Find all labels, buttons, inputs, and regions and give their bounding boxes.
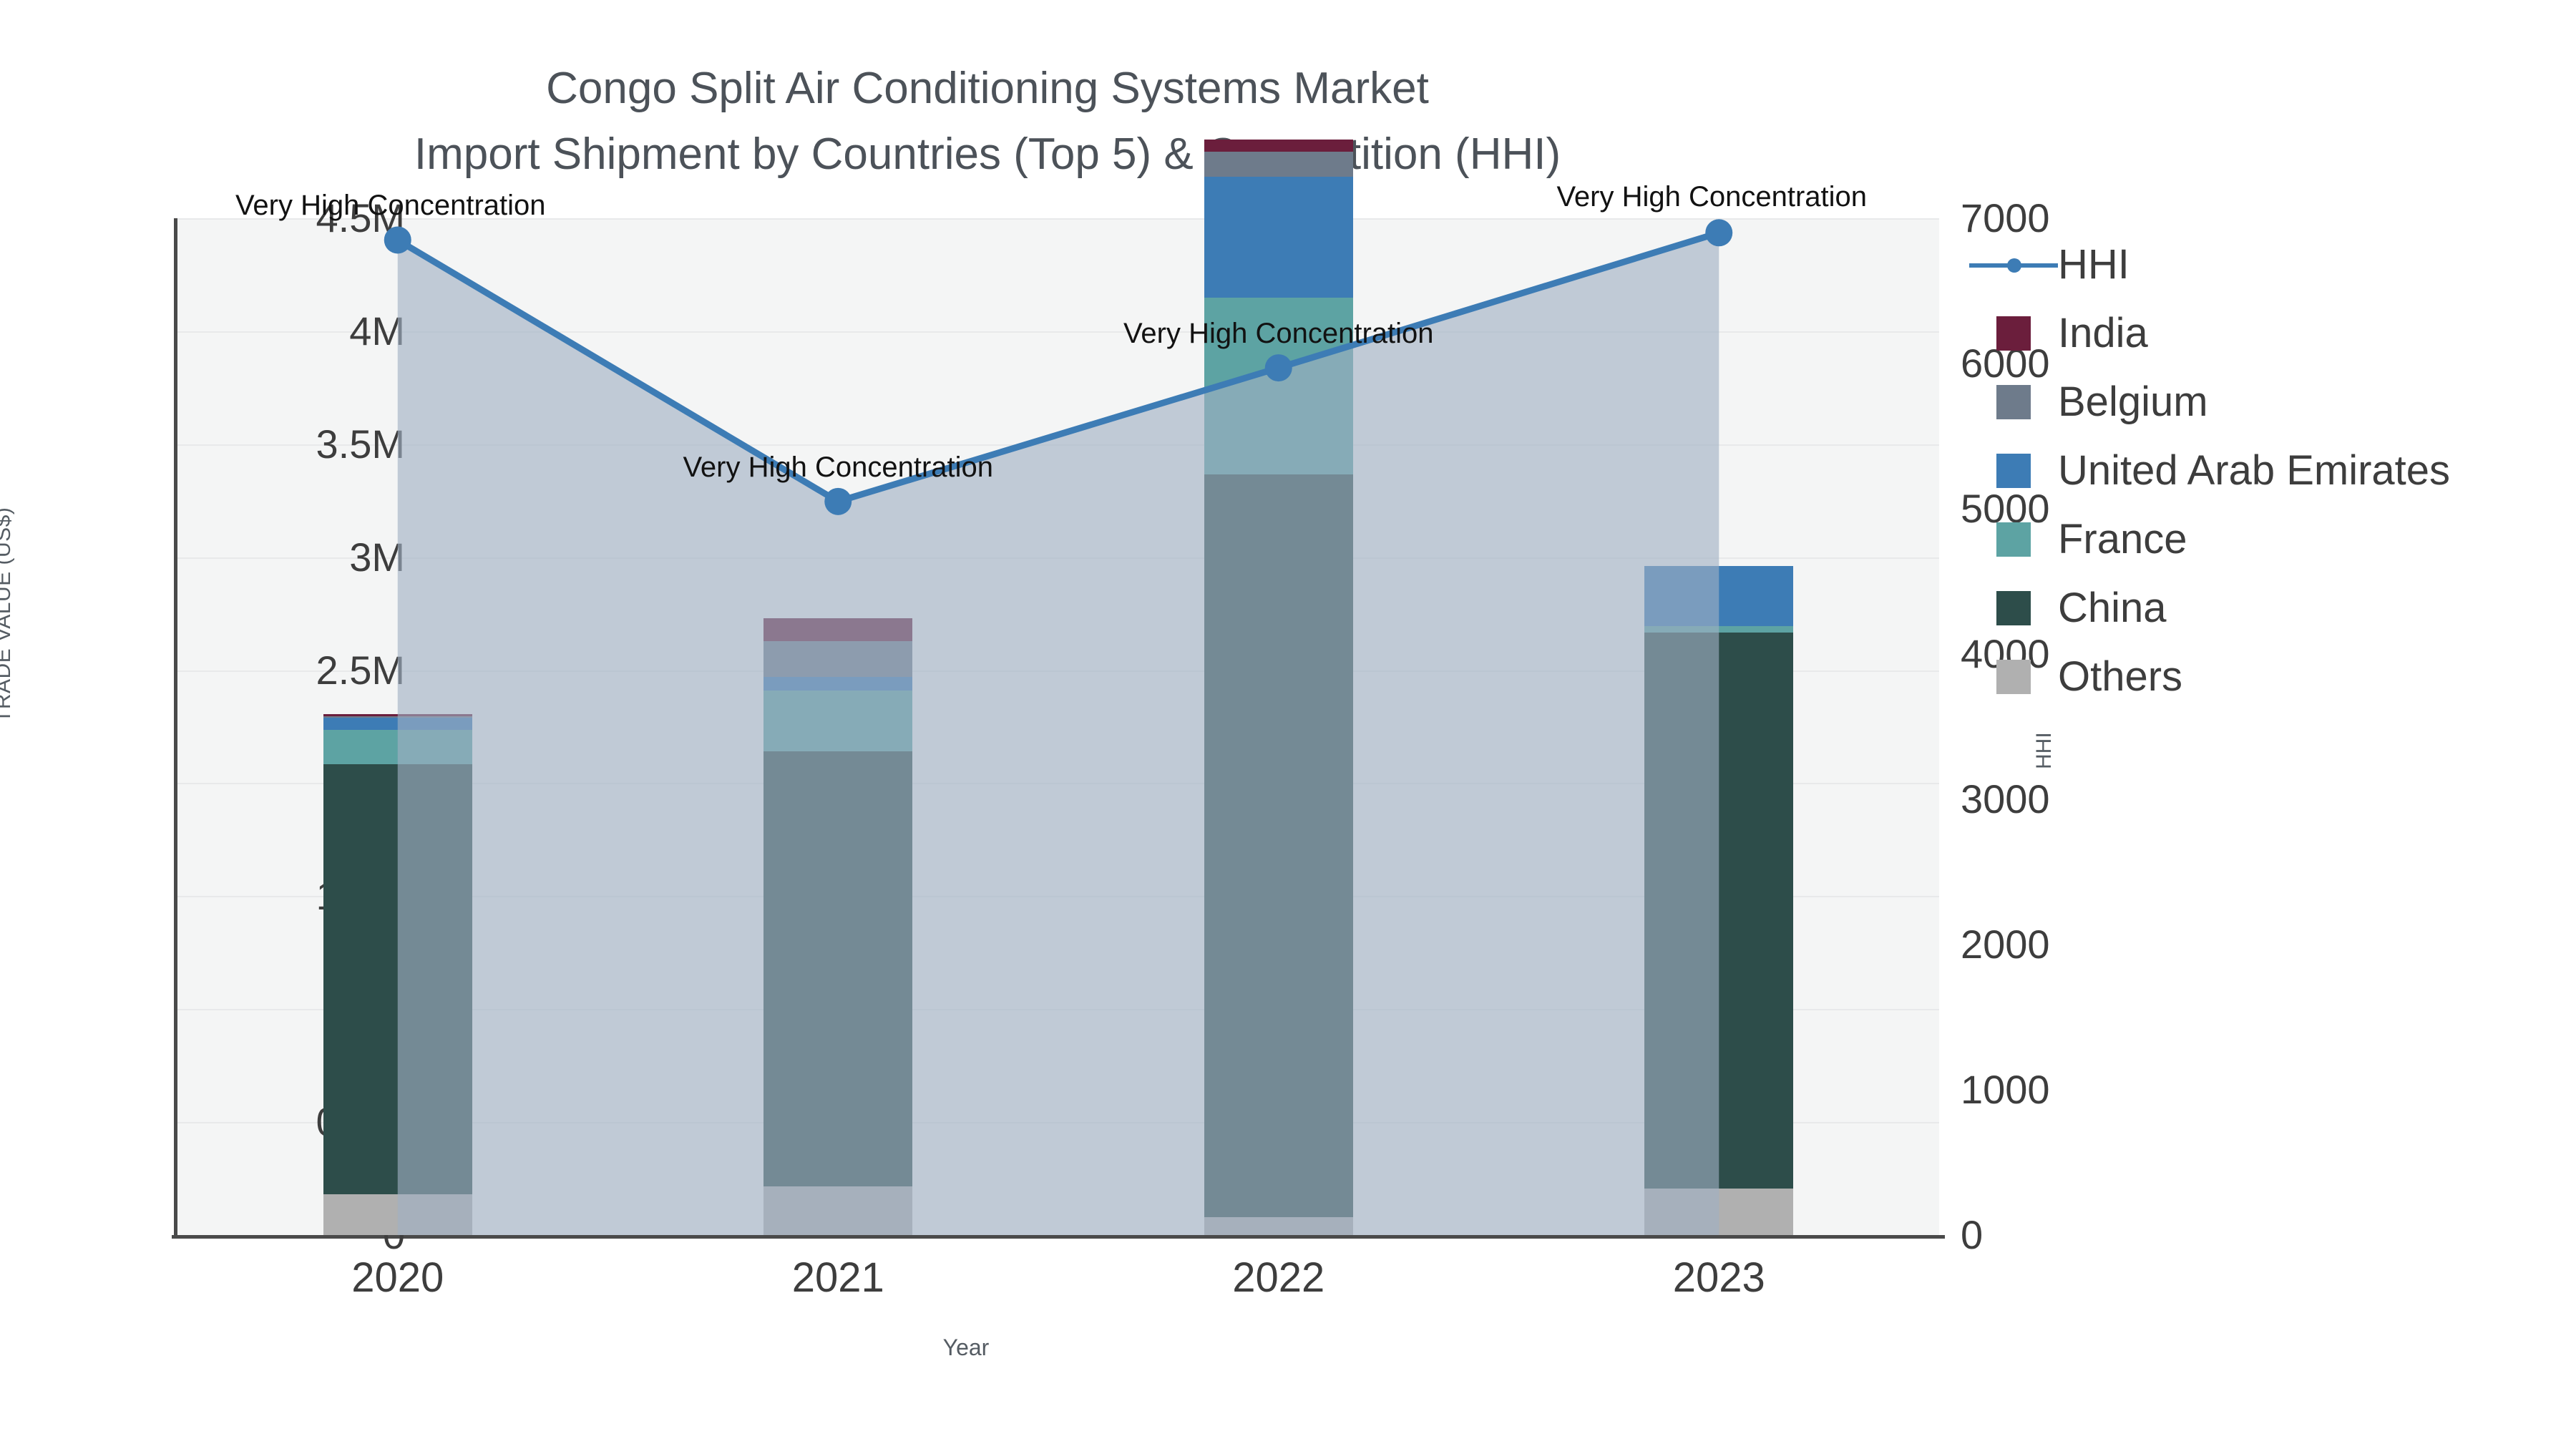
legend-label: HHI: [2058, 244, 2129, 286]
chart-title-line1: Congo Split Air Conditioning Systems Mar…: [546, 64, 1429, 113]
bar-segment-united-arab-emirates[interactable]: [323, 718, 472, 730]
bar-segment-belgium[interactable]: [1204, 152, 1353, 177]
legend-swatch-icon: [1996, 522, 2031, 557]
x-axis-title: Year: [0, 1335, 1932, 1361]
legend-swatch-icon: [1996, 316, 2031, 351]
chart-canvas: Congo Split Air Conditioning Systems Mar…: [0, 0, 2576, 1449]
chart-title: Congo Split Air Conditioning Systems Mar…: [0, 56, 1975, 187]
bar-segment-united-arab-emirates[interactable]: [763, 677, 912, 691]
bar-segment-france[interactable]: [1644, 626, 1793, 633]
x-axis-tick-label: 2021: [792, 1254, 884, 1302]
legend: HHIIndiaBelgiumUnited Arab EmiratesFranc…: [1996, 230, 2450, 711]
x-axis-tick-label: 2022: [1232, 1254, 1324, 1302]
bar-segment-india[interactable]: [763, 618, 912, 641]
legend-label: Belgium: [2058, 381, 2208, 423]
bar-segment-china[interactable]: [323, 764, 472, 1195]
y-axis-title: TRADE VALUE (US$): [0, 507, 16, 723]
bar-segment-united-arab-emirates[interactable]: [1644, 566, 1793, 626]
y-axis-line: [174, 218, 177, 1237]
bar-segment-india[interactable]: [1204, 140, 1353, 152]
bar-segment-others[interactable]: [1644, 1189, 1793, 1235]
legend-item-belgium[interactable]: Belgium: [1996, 368, 2450, 436]
legend-label: United Arab Emirates: [2058, 450, 2450, 492]
x-axis-tick-label: 2023: [1673, 1254, 1765, 1302]
legend-swatch-icon: [1996, 660, 2031, 694]
y2-axis-tick-label: 3000: [1961, 779, 2050, 819]
annotation-label: Very High Concentration: [235, 190, 546, 222]
y2-axis-tick-label: 1000: [1961, 1070, 2050, 1110]
legend-line-marker-icon: [1996, 248, 2031, 282]
legend-swatch-icon: [1996, 591, 2031, 625]
bar-segment-united-arab-emirates[interactable]: [1204, 177, 1353, 298]
bar-segment-france[interactable]: [763, 691, 912, 751]
annotation-label: Very High Concentration: [683, 452, 993, 484]
bar-segment-belgium[interactable]: [763, 641, 912, 678]
bar-segment-others[interactable]: [1204, 1217, 1353, 1235]
y2-axis-tick-label: 0: [1961, 1215, 1983, 1255]
legend-item-france[interactable]: France: [1996, 505, 2450, 574]
legend-swatch-icon: [1996, 454, 2031, 488]
bar-segment-france[interactable]: [323, 730, 472, 763]
legend-item-india[interactable]: India: [1996, 299, 2450, 368]
legend-label: France: [2058, 519, 2187, 560]
bar-segment-others[interactable]: [763, 1186, 912, 1235]
legend-swatch-icon: [1996, 385, 2031, 419]
legend-item-china[interactable]: China: [1996, 574, 2450, 643]
x-axis-tick-label: 2020: [351, 1254, 444, 1302]
x-axis-line: [172, 1235, 1945, 1239]
legend-item-hhi[interactable]: HHI: [1996, 230, 2450, 299]
bar-stack[interactable]: [763, 218, 912, 1235]
legend-item-united-arab-emirates[interactable]: United Arab Emirates: [1996, 436, 2450, 505]
bar-segment-china[interactable]: [1204, 474, 1353, 1216]
chart-title-line2: Import Shipment by Countries (Top 5) & C…: [414, 130, 1561, 179]
y2-axis-tick-label: 2000: [1961, 924, 2050, 965]
bar-segment-belgium[interactable]: [323, 716, 472, 718]
legend-label: China: [2058, 587, 2167, 629]
legend-label: Others: [2058, 656, 2182, 698]
bar-segment-india[interactable]: [323, 714, 472, 716]
bar-stack[interactable]: [1644, 218, 1793, 1235]
bar-segment-china[interactable]: [1644, 633, 1793, 1189]
bar-stack[interactable]: [323, 218, 472, 1235]
y2-axis-title: HHI: [2032, 732, 2057, 769]
annotation-label: Very High Concentration: [1556, 181, 1867, 213]
legend-item-others[interactable]: Others: [1996, 643, 2450, 711]
bar-segment-china[interactable]: [763, 751, 912, 1186]
legend-label: India: [2058, 313, 2148, 354]
annotation-label: Very High Concentration: [1123, 318, 1434, 350]
bar-segment-others[interactable]: [323, 1194, 472, 1235]
bar-stack[interactable]: [1204, 218, 1353, 1235]
